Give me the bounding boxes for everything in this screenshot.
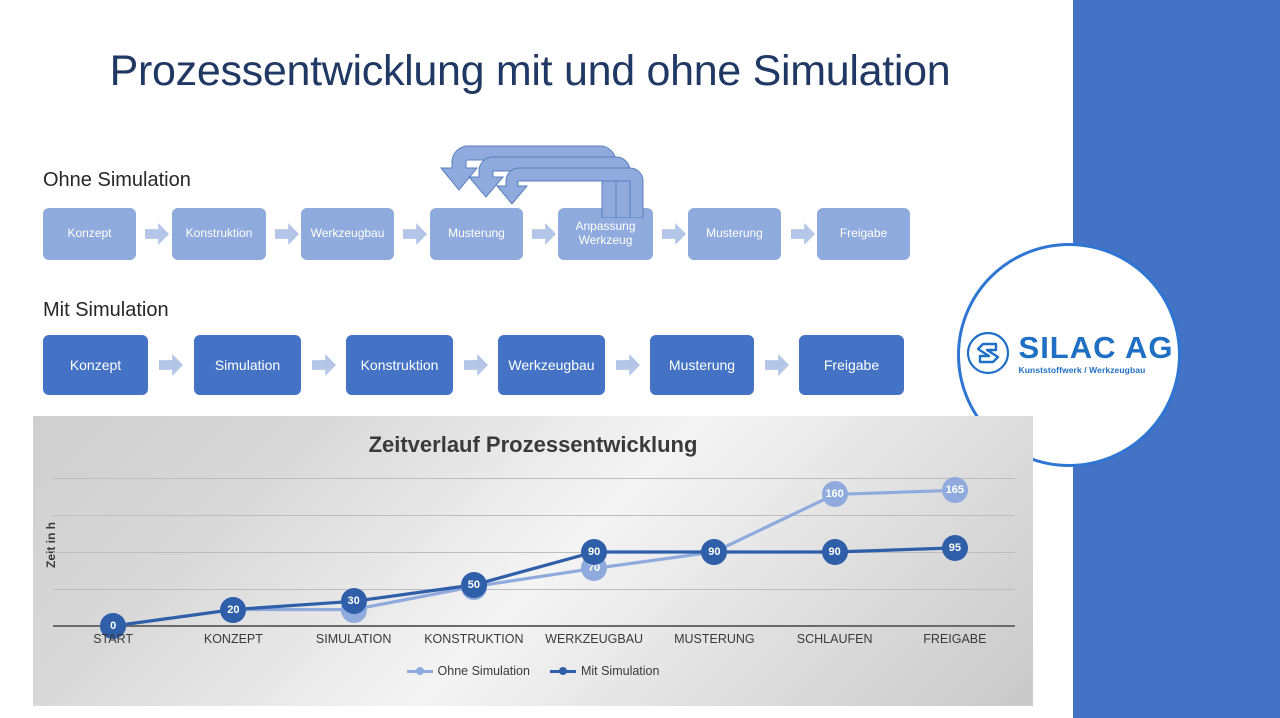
section-label-mit-simulation: Mit Simulation	[43, 299, 169, 322]
chart-point-konzept-mit: 20	[220, 597, 246, 623]
chart-point-schlaufen-mit: 90	[822, 539, 848, 565]
x-tick-label: FREIGABE	[923, 632, 986, 646]
x-tick-label: SCHLAUFEN	[797, 632, 873, 646]
process-arrow-icon	[275, 223, 299, 245]
chart-series-lines	[53, 478, 1015, 626]
process-step-freigabe-1[interactable]: Freigabe	[817, 208, 910, 260]
process-arrow-icon	[791, 223, 815, 245]
x-tick-label: KONZEPT	[204, 632, 263, 646]
chart-point-konstruktion-mit: 50	[461, 572, 487, 598]
chart-container: Zeitverlauf Prozessentwicklung Zeit in h…	[33, 416, 1033, 706]
chart-plot-area: 02020487090160165020305090909095	[53, 478, 1015, 626]
x-tick-label: KONSTRUKTION	[424, 632, 523, 646]
process-step-werkzeugbau-2[interactable]: Werkzeugbau	[498, 335, 605, 395]
process-step-konstruktion-2[interactable]: Konstruktion	[346, 335, 453, 395]
chart-point-freigabe-ohne: 165	[942, 477, 968, 503]
slide-canvas: Prozessentwicklung mit und ohne Simulati…	[0, 0, 1280, 718]
process-arrow-icon	[145, 223, 169, 245]
process-arrow-icon	[532, 223, 556, 245]
process-step-simulation[interactable]: Simulation	[194, 335, 301, 395]
chart-legend: Ohne Simulation Mit Simulation	[33, 664, 1033, 678]
logo-company-name: SILAC AG	[1019, 332, 1174, 363]
process-arrow-icon	[765, 354, 789, 376]
logo-tagline: Kunststoffwerk / Werkzeugbau	[1019, 365, 1146, 375]
section-label-ohne-simulation: Ohne Simulation	[43, 169, 191, 192]
process-step-konzept-2[interactable]: Konzept	[43, 335, 148, 395]
process-arrow-icon	[616, 354, 640, 376]
x-tick-label: WERKZEUGBAU	[545, 632, 643, 646]
chart-point-freigabe-mit: 95	[942, 535, 968, 561]
feedback-loop-arrows-icon	[440, 138, 660, 218]
silac-s-mark-icon	[965, 330, 1011, 376]
legend-marker-icon	[407, 666, 433, 676]
chart-title: Zeitverlauf Prozessentwicklung	[33, 432, 1033, 458]
process-step-konstruktion-1[interactable]: Konstruktion	[172, 208, 266, 260]
process-arrow-icon	[159, 354, 183, 376]
process-arrow-icon	[662, 223, 686, 245]
process-step-konzept-1[interactable]: Konzept	[43, 208, 136, 260]
page-title: Prozessentwicklung mit und ohne Simulati…	[0, 47, 1060, 96]
chart-point-simulation-mit: 30	[341, 588, 367, 614]
process-arrow-icon	[464, 354, 488, 376]
x-tick-label: START	[93, 632, 133, 646]
legend-label-mit-simulation: Mit Simulation	[581, 664, 660, 678]
legend-marker-icon	[550, 666, 576, 676]
chart-point-werkzeugbau-mit: 90	[581, 539, 607, 565]
process-step-musterung-3[interactable]: Musterung	[650, 335, 754, 395]
process-step-musterung-2[interactable]: Musterung	[688, 208, 781, 260]
chart-point-musterung-mit: 90	[701, 539, 727, 565]
x-tick-label: MUSTERUNG	[674, 632, 755, 646]
process-step-freigabe-2[interactable]: Freigabe	[799, 335, 904, 395]
legend-label-ohne-simulation: Ohne Simulation	[438, 664, 530, 678]
process-arrow-icon	[403, 223, 427, 245]
x-tick-label: SIMULATION	[316, 632, 391, 646]
process-step-werkzeugbau-1[interactable]: Werkzeugbau	[301, 208, 394, 260]
process-arrow-icon	[312, 354, 336, 376]
legend-item-mit-simulation[interactable]: Mit Simulation	[550, 664, 660, 678]
chart-x-axis-labels: STARTKONZEPTSIMULATIONKONSTRUKTIONWERKZE…	[53, 632, 1015, 652]
chart-point-schlaufen-ohne: 160	[822, 481, 848, 507]
legend-item-ohne-simulation[interactable]: Ohne Simulation	[407, 664, 530, 678]
